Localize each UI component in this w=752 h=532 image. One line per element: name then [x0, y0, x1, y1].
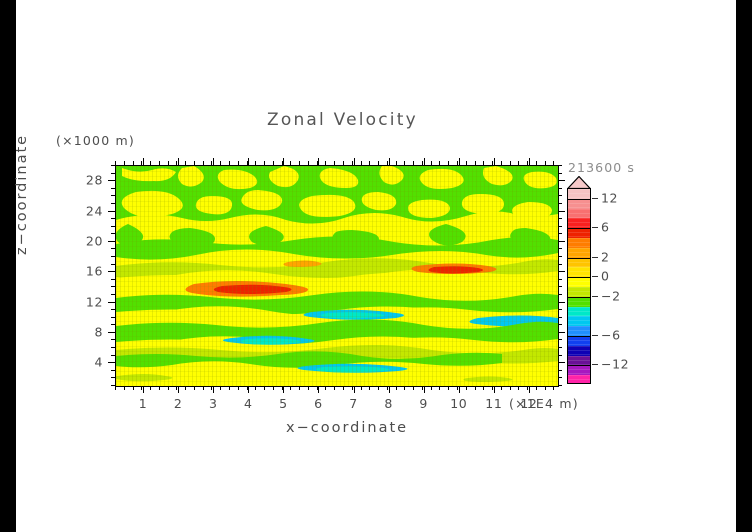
y-tick-major-right [558, 362, 565, 363]
y-tick-major [108, 241, 115, 242]
y-axis-title: z−coordinate [14, 134, 30, 255]
y-tick-minor [111, 309, 115, 310]
x-tick-minor [194, 386, 195, 390]
y-tick-minor [111, 286, 115, 287]
x-tick-minor-top [387, 161, 388, 165]
x-tick-minor-top [492, 161, 493, 165]
x-tick-minor-top [466, 161, 467, 165]
x-tick-minor-top [325, 161, 326, 165]
x-tick-minor-top [439, 161, 440, 165]
y-tick-minor-right [558, 226, 562, 227]
y-tick-major-right [558, 271, 565, 272]
y-tick-major [108, 362, 115, 363]
x-tick-minor-top [527, 161, 528, 165]
y-tick-minor [111, 195, 115, 196]
x-tick-minor-top [475, 161, 476, 165]
colorbar-level-separator [568, 199, 590, 200]
x-tick-major-top [459, 158, 460, 165]
x-tick-minor-top [141, 161, 142, 165]
colorbar-band [568, 375, 590, 384]
y-tick-minor [111, 264, 115, 265]
x-tick-minor [308, 386, 309, 390]
x-tick-minor [553, 386, 554, 390]
y-tick-major [108, 180, 115, 181]
y-tick-minor [111, 165, 115, 166]
x-tick-minor-top [448, 161, 449, 165]
x-tick-label: 7 [349, 396, 358, 411]
x-tick-minor-top [404, 161, 405, 165]
y-tick-label: 16 [73, 264, 103, 279]
x-tick-minor-top [536, 161, 537, 165]
x-tick-major-top [213, 158, 214, 165]
x-tick-minor-top [317, 161, 318, 165]
y-tick-minor-right [558, 317, 562, 318]
x-tick-label: 12 [520, 396, 537, 411]
y-tick-minor [111, 218, 115, 219]
x-tick-minor [510, 386, 511, 390]
x-tick-minor-top [334, 161, 335, 165]
y-tick-minor [111, 370, 115, 371]
y-tick-minor [111, 324, 115, 325]
colorbar-label: 2 [601, 249, 610, 264]
y-tick-minor-right [558, 309, 562, 310]
colorbar-level-separator [568, 365, 590, 366]
y-tick-minor [111, 279, 115, 280]
x-tick-minor-top [150, 161, 151, 165]
screenshot-root: Zonal Velocity 213600 s (×1000 m) (×1E4 … [0, 0, 752, 532]
x-tick-major-top [529, 158, 530, 165]
x-tick-minor [282, 386, 283, 390]
y-tick-minor-right [558, 324, 562, 325]
x-tick-minor [159, 386, 160, 390]
y-tick-major [108, 211, 115, 212]
x-tick-label: 9 [419, 396, 428, 411]
x-tick-minor-top [133, 161, 134, 165]
y-tick-minor [111, 377, 115, 378]
contour-plot-area [115, 165, 559, 387]
timestamp-label: 213600 s [568, 160, 635, 175]
contour-field [116, 166, 558, 386]
x-tick-minor [422, 386, 423, 390]
y-tick-minor-right [558, 294, 562, 295]
x-tick-minor [247, 386, 248, 390]
x-tick-minor [545, 386, 546, 390]
x-tick-major [213, 386, 214, 393]
colorbar-label: −12 [601, 357, 629, 372]
x-tick-major [248, 386, 249, 393]
y-tick-major-right [558, 180, 565, 181]
colorbar-level-separator [568, 258, 590, 259]
y-tick-label: 24 [73, 203, 103, 218]
y-axis-unit-label: (×1000 m) [56, 133, 135, 148]
x-tick-major-top [494, 158, 495, 165]
x-tick-major-top [389, 158, 390, 165]
y-tick-minor-right [558, 173, 562, 174]
y-tick-minor [111, 173, 115, 174]
y-tick-minor [111, 317, 115, 318]
y-tick-minor-right [558, 195, 562, 196]
colorbar-tick [592, 335, 598, 336]
x-tick-minor-top [413, 161, 414, 165]
x-tick-major [143, 386, 144, 393]
y-tick-minor-right [558, 203, 562, 204]
y-tick-minor [111, 355, 115, 356]
y-tick-minor-right [558, 188, 562, 189]
y-tick-minor-right [558, 279, 562, 280]
x-tick-major [178, 386, 179, 393]
x-tick-minor-top [159, 161, 160, 165]
y-tick-major-right [558, 332, 565, 333]
x-tick-major-top [283, 158, 284, 165]
colorbar-tick [592, 198, 598, 199]
x-tick-minor-top [343, 161, 344, 165]
x-tick-minor-top [396, 161, 397, 165]
x-tick-minor [466, 386, 467, 390]
x-tick-minor-top [211, 161, 212, 165]
y-tick-minor [111, 339, 115, 340]
y-tick-minor-right [558, 165, 562, 166]
x-tick-minor [501, 386, 502, 390]
x-tick-minor-top [361, 161, 362, 165]
y-tick-minor-right [558, 218, 562, 219]
x-tick-minor-top [431, 161, 432, 165]
y-tick-minor [111, 203, 115, 204]
x-tick-minor [334, 386, 335, 390]
colorbar-level-separator [568, 297, 590, 298]
x-tick-minor [203, 386, 204, 390]
x-tick-minor [325, 386, 326, 390]
x-tick-major-top [143, 158, 144, 165]
y-tick-major [108, 332, 115, 333]
x-tick-major [459, 386, 460, 393]
x-tick-label: 2 [174, 396, 183, 411]
y-tick-minor [111, 233, 115, 234]
x-tick-minor [150, 386, 151, 390]
x-tick-minor [220, 386, 221, 390]
x-tick-minor-top [369, 161, 370, 165]
y-tick-major [108, 271, 115, 272]
y-tick-label: 20 [73, 233, 103, 248]
y-tick-minor-right [558, 256, 562, 257]
colorbar-tick [592, 364, 598, 365]
x-tick-minor [361, 386, 362, 390]
x-tick-minor-top [352, 161, 353, 165]
x-tick-minor [457, 386, 458, 390]
figure-canvas: Zonal Velocity 213600 s (×1000 m) (×1E4 … [16, 0, 736, 532]
x-tick-minor [439, 386, 440, 390]
colorbar-label: −2 [601, 288, 621, 303]
x-tick-label: 5 [279, 396, 288, 411]
x-tick-minor-top [255, 161, 256, 165]
x-tick-minor [475, 386, 476, 390]
x-tick-minor-top [545, 161, 546, 165]
y-tick-minor-right [558, 286, 562, 287]
y-tick-label: 4 [73, 355, 103, 370]
y-tick-minor-right [558, 385, 562, 386]
x-tick-minor-top [168, 161, 169, 165]
x-tick-minor-top [299, 161, 300, 165]
x-tick-minor [273, 386, 274, 390]
x-tick-minor [133, 386, 134, 390]
x-tick-minor [387, 386, 388, 390]
x-tick-minor [124, 386, 125, 390]
x-tick-minor [378, 386, 379, 390]
x-tick-minor-top [422, 161, 423, 165]
x-tick-major [318, 386, 319, 393]
y-tick-minor-right [558, 370, 562, 371]
x-tick-minor [299, 386, 300, 390]
x-tick-major-top [248, 158, 249, 165]
x-tick-major-top [354, 158, 355, 165]
x-tick-label: 3 [209, 396, 218, 411]
x-tick-minor [115, 386, 116, 390]
y-tick-major-right [558, 241, 565, 242]
x-tick-minor [141, 386, 142, 390]
x-tick-minor-top [501, 161, 502, 165]
x-tick-minor [238, 386, 239, 390]
colorbar-tick [592, 276, 598, 277]
x-tick-major-top [318, 158, 319, 165]
colorbar-label: 12 [601, 190, 618, 205]
x-tick-minor [176, 386, 177, 390]
x-tick-minor-top [282, 161, 283, 165]
x-tick-minor [492, 386, 493, 390]
x-tick-minor [352, 386, 353, 390]
x-tick-label: 6 [314, 396, 323, 411]
x-tick-minor-top [247, 161, 248, 165]
x-tick-minor [255, 386, 256, 390]
x-axis-title: x−coordinate [286, 420, 408, 436]
x-tick-minor [185, 386, 186, 390]
y-tick-minor-right [558, 233, 562, 234]
x-tick-minor-top [194, 161, 195, 165]
y-tick-minor [111, 347, 115, 348]
y-tick-minor-right [558, 377, 562, 378]
colorbar-bands [567, 188, 591, 384]
x-tick-major [389, 386, 390, 393]
x-tick-minor [343, 386, 344, 390]
x-tick-minor [527, 386, 528, 390]
y-tick-minor [111, 188, 115, 189]
x-tick-minor-top [273, 161, 274, 165]
x-tick-label: 1 [139, 396, 148, 411]
colorbar-level-separator [568, 336, 590, 337]
colorbar-label: 6 [601, 220, 610, 235]
x-tick-minor-top [124, 161, 125, 165]
x-tick-minor [396, 386, 397, 390]
x-tick-major-top [424, 158, 425, 165]
x-tick-major [424, 386, 425, 393]
y-tick-minor-right [558, 339, 562, 340]
y-tick-minor [111, 256, 115, 257]
x-tick-minor [211, 386, 212, 390]
x-tick-minor-top [457, 161, 458, 165]
x-tick-minor-top [115, 161, 116, 165]
x-tick-minor [413, 386, 414, 390]
y-tick-major-right [558, 211, 565, 212]
x-tick-label: 8 [384, 396, 393, 411]
y-tick-minor-right [558, 347, 562, 348]
x-tick-minor [168, 386, 169, 390]
x-tick-minor-top [264, 161, 265, 165]
colorbar-tick [592, 227, 598, 228]
x-tick-minor [290, 386, 291, 390]
x-tick-minor-top [229, 161, 230, 165]
x-tick-minor [448, 386, 449, 390]
y-tick-minor-right [558, 248, 562, 249]
x-tick-minor [431, 386, 432, 390]
x-tick-major [494, 386, 495, 393]
page-title: Zonal Velocity [267, 110, 418, 130]
x-tick-minor-top [220, 161, 221, 165]
x-tick-minor-top [176, 161, 177, 165]
x-tick-minor-top [290, 161, 291, 165]
x-tick-minor-top [510, 161, 511, 165]
x-tick-label: 11 [485, 396, 502, 411]
x-tick-label: 10 [450, 396, 467, 411]
y-tick-label: 8 [73, 324, 103, 339]
x-tick-major [283, 386, 284, 393]
x-tick-minor-top [378, 161, 379, 165]
y-tick-minor [111, 294, 115, 295]
x-tick-minor [264, 386, 265, 390]
x-tick-minor-top [203, 161, 204, 165]
x-tick-minor-top [238, 161, 239, 165]
x-tick-minor [229, 386, 230, 390]
x-tick-minor [404, 386, 405, 390]
x-tick-minor-top [518, 161, 519, 165]
y-tick-label: 12 [73, 294, 103, 309]
y-tick-minor [111, 248, 115, 249]
x-tick-minor-top [308, 161, 309, 165]
y-tick-minor-right [558, 355, 562, 356]
x-tick-major [529, 386, 530, 393]
y-tick-minor [111, 226, 115, 227]
colorbar-level-separator [568, 228, 590, 229]
y-tick-major-right [558, 302, 565, 303]
y-tick-minor-right [558, 264, 562, 265]
x-tick-minor-top [553, 161, 554, 165]
x-tick-minor [536, 386, 537, 390]
colorbar: 12620−2−6−12 [567, 188, 591, 384]
colorbar-label: −6 [601, 328, 621, 343]
y-tick-label: 28 [73, 173, 103, 188]
colorbar-tick [592, 257, 598, 258]
x-tick-label: 4 [244, 396, 253, 411]
x-tick-minor [317, 386, 318, 390]
y-tick-minor [111, 385, 115, 386]
colorbar-label: 0 [601, 269, 610, 284]
x-tick-major-top [178, 158, 179, 165]
x-tick-minor [369, 386, 370, 390]
colorbar-level-separator [568, 277, 590, 278]
x-tick-minor [518, 386, 519, 390]
x-tick-minor [483, 386, 484, 390]
colorbar-tick [592, 296, 598, 297]
y-tick-major [108, 302, 115, 303]
x-tick-minor-top [483, 161, 484, 165]
x-tick-major [354, 386, 355, 393]
x-tick-minor-top [185, 161, 186, 165]
